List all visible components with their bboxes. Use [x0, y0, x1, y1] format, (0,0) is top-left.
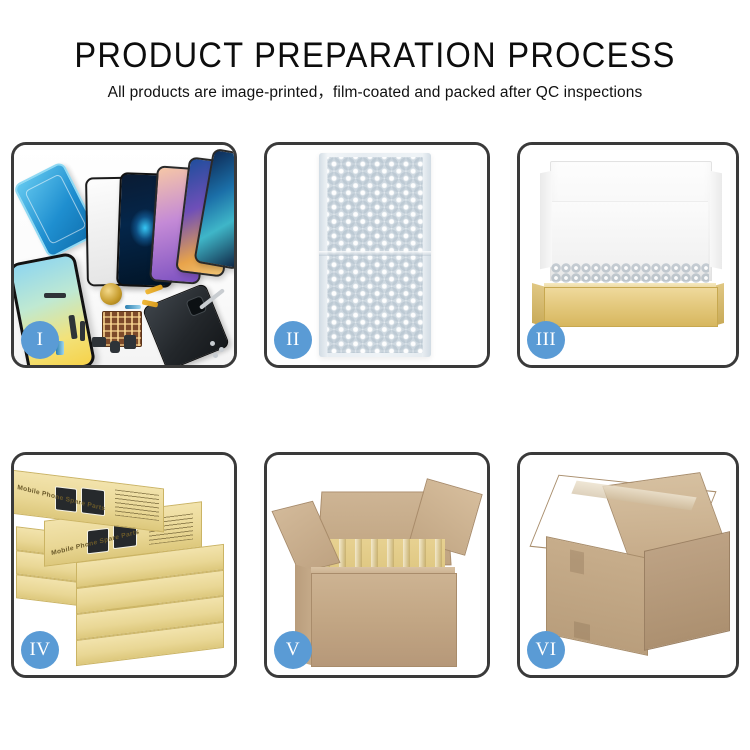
flex-cable-graphic	[80, 321, 85, 341]
carton-flap-tab	[570, 550, 584, 575]
carton-flap-tab	[574, 621, 590, 640]
spare-part-graphic	[92, 337, 106, 347]
step-badge-3: III	[527, 321, 565, 359]
step-numeral: II	[286, 329, 300, 351]
step-numeral: I	[37, 329, 44, 351]
step-badge-4: IV	[21, 631, 59, 669]
box-spec-lines	[115, 489, 159, 520]
chip-board-graphic	[102, 311, 142, 347]
step-panel-5: V	[264, 452, 490, 678]
product-preparation-infographic: PRODUCT PREPARATION PROCESS All products…	[0, 0, 750, 750]
step-numeral: III	[536, 329, 556, 351]
wireless-coil-graphic	[100, 283, 122, 305]
step-numeral: V	[286, 639, 300, 661]
retail-box-top-1: Mobile Phone Spare Parts	[14, 470, 164, 533]
step-panel-2: II	[264, 142, 490, 368]
spare-part-graphic	[110, 341, 120, 353]
step-badge-1: I	[21, 321, 59, 359]
bubble-wrap-pouch-graphic	[319, 153, 431, 357]
step-numeral: VI	[535, 639, 556, 661]
step-panel-6: VI	[517, 452, 739, 678]
step-badge-6: VI	[527, 631, 565, 669]
step-badge-2: II	[274, 321, 312, 359]
steps-grid: I II	[0, 0, 750, 750]
foam-sheet-graphic	[552, 201, 708, 266]
step-numeral: IV	[29, 639, 50, 661]
step-badge-5: V	[274, 631, 312, 669]
carton-front-panel	[311, 573, 457, 667]
spare-part-graphic	[44, 293, 66, 298]
pouch-seam	[319, 251, 431, 256]
flex-cable-graphic	[125, 305, 141, 309]
screw-graphic	[213, 353, 218, 358]
screw-graphic	[210, 341, 215, 346]
step-panel-4: Mobile Phone Spare Parts Mobile Phone Sp…	[11, 452, 237, 678]
step-panel-3: III	[517, 142, 739, 368]
step-panel-1: I	[11, 142, 237, 368]
carton-side-face	[644, 531, 730, 651]
mailer-front-panel	[544, 287, 718, 327]
spare-part-graphic	[124, 335, 136, 349]
screw-graphic	[219, 347, 224, 352]
